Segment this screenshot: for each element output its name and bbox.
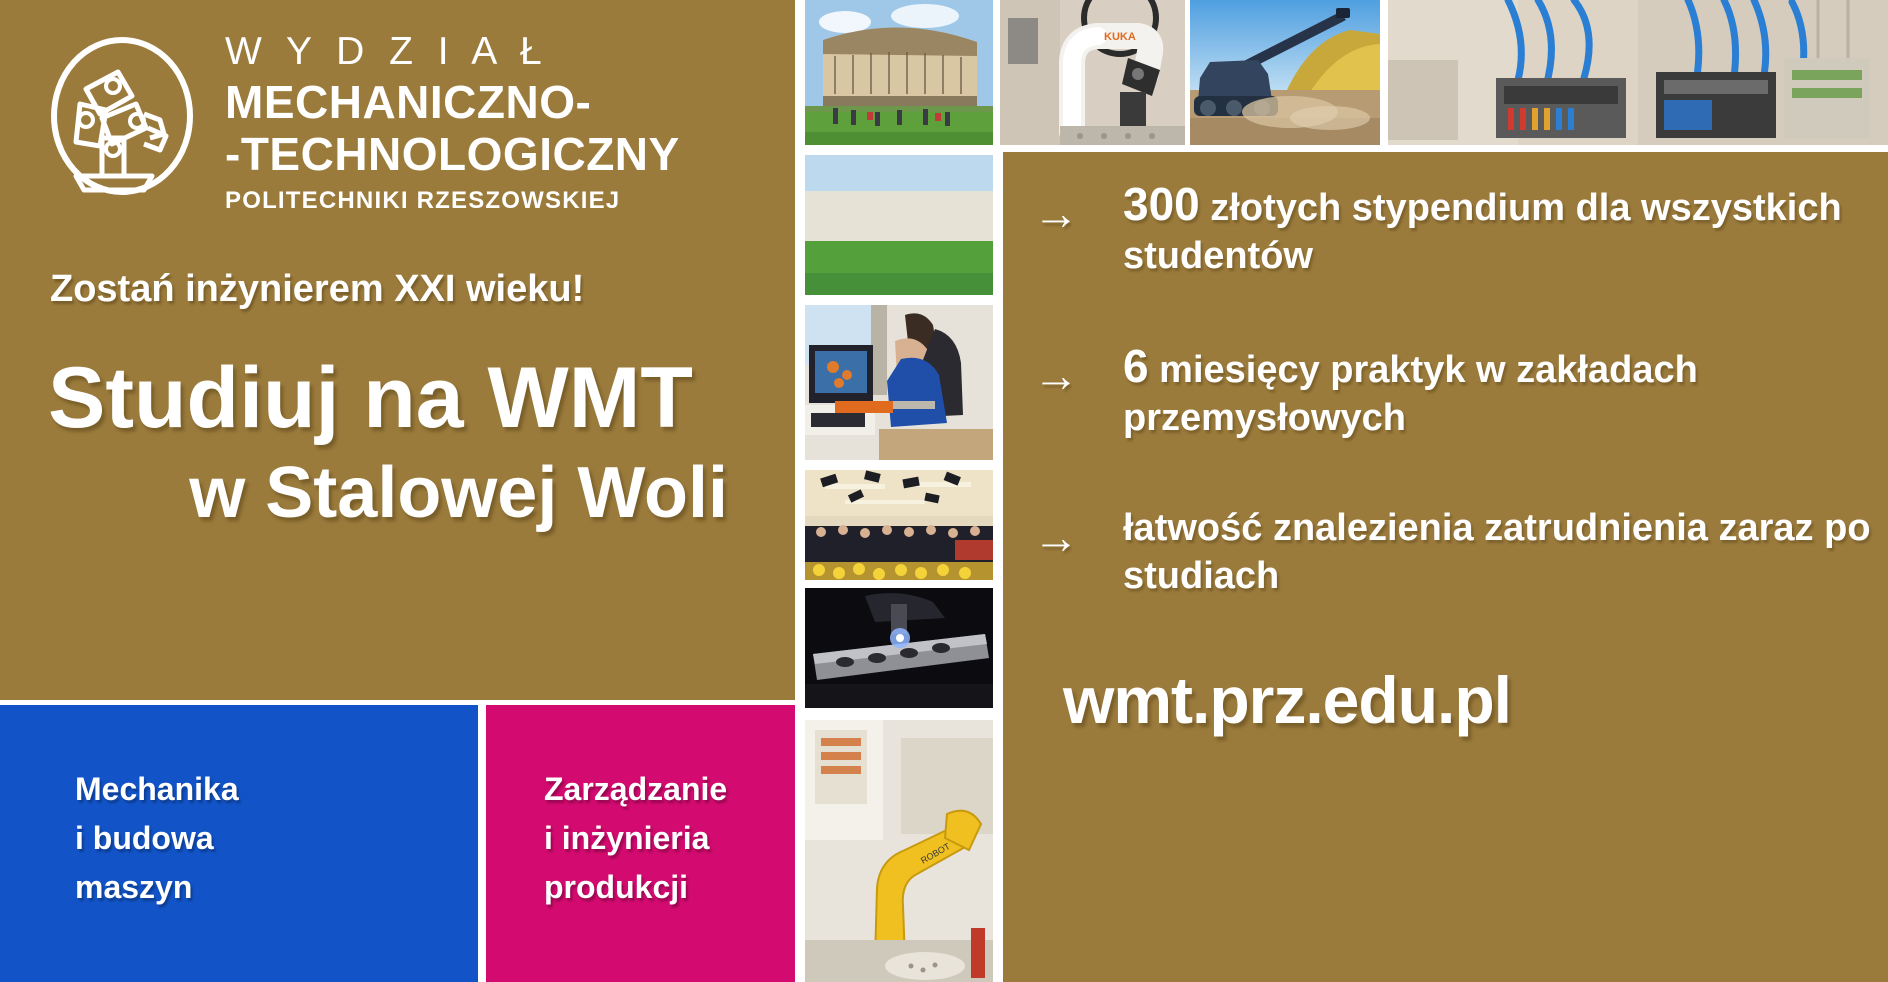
benefit-2-lead: 6 <box>1123 340 1149 392</box>
photo-laser-and-yellow-robot: ROBOT <box>805 588 993 982</box>
benefit-1-lead: 300 <box>1123 178 1200 230</box>
photo-military-vehicle <box>1190 0 1380 145</box>
benefit-item-praktyki: → 6 miesięcy praktyk w zakładach przemys… <box>1033 342 1873 442</box>
program-zarzadzanie-label: Zarządzanie i inżynieria produkcji <box>544 765 785 912</box>
program-mechanika-label: Mechanika i budowa maszyn <box>75 765 468 912</box>
benefit-3-rest: łatwość znalezienia zatrudnienia zaraz p… <box>1123 507 1871 597</box>
logo-line-mechaniczno: MECHANICZNO- <box>225 76 785 128</box>
photo-control-cabinet <box>1388 0 1888 145</box>
headline-line-1: Studiuj na WMT <box>48 352 788 444</box>
arrow-right-icon: → <box>1033 342 1123 402</box>
benefit-1-rest: złotych stypendium dla wszystkich studen… <box>1123 187 1842 277</box>
poster-root: W Y D Z I A Ł MECHANICZNO- -TECHNOLOGICZ… <box>0 0 1888 982</box>
program-card-mechanika[interactable]: Mechanika i budowa maszyn <box>0 705 478 982</box>
benefit-item-stypendium: → 300 złotych stypendium dla wszystkich … <box>1033 180 1873 280</box>
benefit-2-rest: miesięcy praktyk w zakładach przemysłowy… <box>1123 349 1698 439</box>
left-brand-panel: W Y D Z I A Ł MECHANICZNO- -TECHNOLOGICZ… <box>0 0 795 700</box>
benefit-2-text: 6 miesięcy praktyk w zakładach przemysło… <box>1123 342 1873 442</box>
benefit-3-text: łatwość znalezienia zatrudnienia zaraz p… <box>1123 504 1873 600</box>
photo-lab-students-computer <box>805 305 993 460</box>
benefit-item-zatrudnienie: → łatwość znalezienia zatrudnienia zaraz… <box>1033 504 1873 600</box>
photo-graduation-ceremony <box>805 470 993 580</box>
benefits-panel: → 300 złotych stypendium dla wszystkich … <box>1003 152 1888 982</box>
photo-campus-building <box>805 0 993 145</box>
website-url[interactable]: wmt.prz.edu.pl <box>1063 662 1511 738</box>
svg-text:KUKA: KUKA <box>1104 31 1136 43</box>
robot-arm-icon <box>40 34 205 199</box>
arrow-right-icon: → <box>1033 504 1123 564</box>
headline-line-2: w Stalowej Woli <box>48 452 788 534</box>
tagline: Zostań inżynierem XXI wieku! <box>50 268 770 311</box>
photo-campus-building-grass <box>805 155 993 295</box>
logo-line-wydzial: W Y D Z I A Ł <box>225 28 785 76</box>
arrow-right-icon: → <box>1033 180 1123 240</box>
faculty-logo: W Y D Z I A Ł MECHANICZNO- -TECHNOLOGICZ… <box>40 28 780 228</box>
program-card-zarzadzanie[interactable]: Zarządzanie i inżynieria produkcji <box>486 705 795 982</box>
logo-line-politechniki: POLITECHNIKI RZESZOWSKIEJ <box>225 184 785 218</box>
logo-line-technologiczny: -TECHNOLOGICZNY <box>225 128 785 180</box>
photo-kuka-robot: KUKA <box>1000 0 1185 145</box>
logo-wordmark: W Y D Z I A Ł MECHANICZNO- -TECHNOLOGICZ… <box>225 28 785 218</box>
benefit-1-text: 300 złotych stypendium dla wszystkich st… <box>1123 180 1873 280</box>
